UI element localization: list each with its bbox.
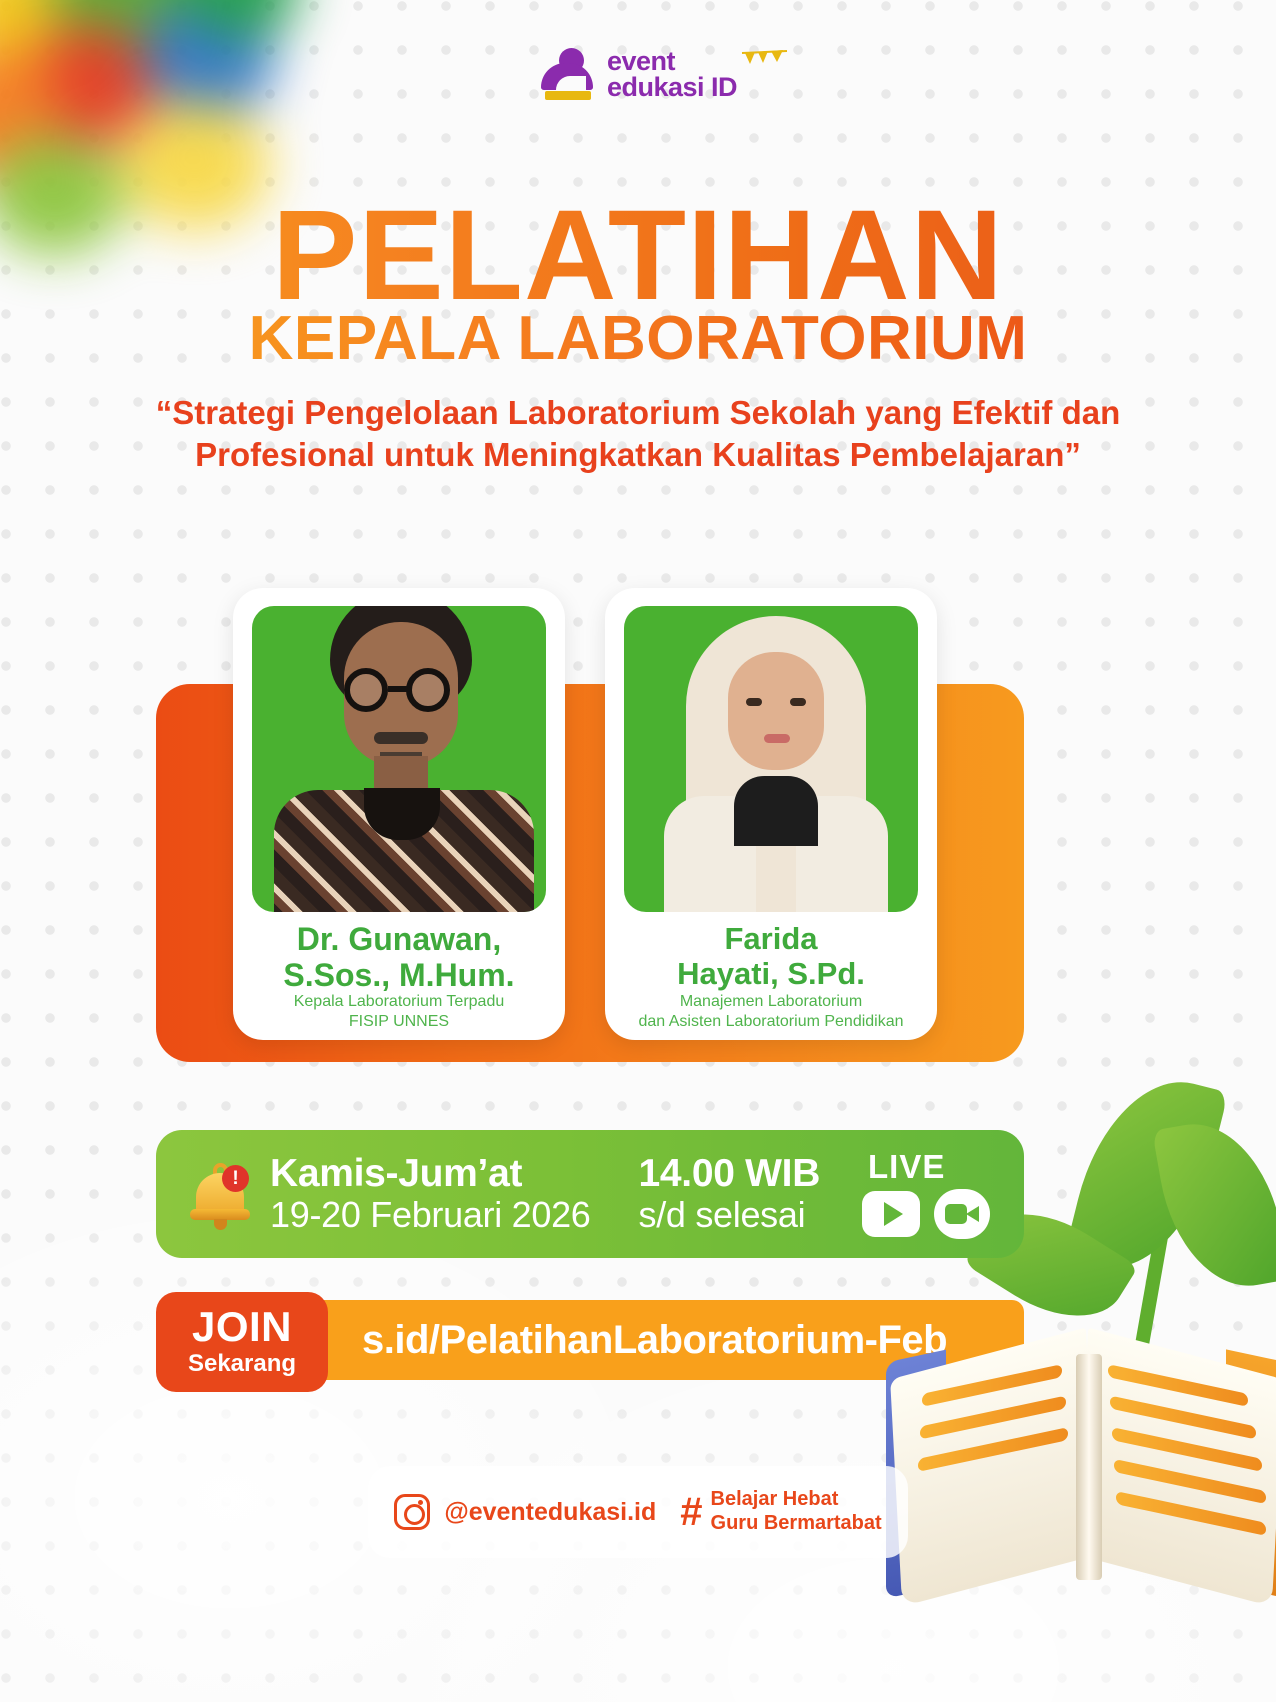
speaker-role-line1: Manajemen Laboratorium xyxy=(615,992,927,1012)
speaker-photo xyxy=(252,606,546,912)
person-podium-icon xyxy=(539,48,597,100)
event-time-note: s/d selesai xyxy=(639,1195,821,1235)
poster-canvas: event edukasi ID PELATIHAN KEPALA LABORA… xyxy=(0,0,1276,1702)
brand-logo-text: event edukasi ID xyxy=(607,48,737,101)
speaker-role: Manajemen Laboratorium dan Asisten Labor… xyxy=(615,992,927,1032)
join-now-badge[interactable]: JOIN Sekarang xyxy=(156,1292,328,1392)
brand-logo-line1: event xyxy=(607,48,737,74)
live-platform-block: LIVE xyxy=(862,1150,990,1239)
event-time-block: 14.00 WIB s/d selesai xyxy=(639,1153,821,1235)
bell-badge-mark: ! xyxy=(222,1165,249,1192)
instagram-block[interactable]: @eventedukasi.id xyxy=(394,1494,656,1530)
event-date: 19-20 Februari 2026 xyxy=(270,1195,591,1235)
page-subtitle: KEPALA LABORATORIUM xyxy=(0,308,1276,370)
speakers-container: Dr. Gunawan, S.Sos., M.Hum. Kepala Labor… xyxy=(0,588,1276,1068)
event-day: Kamis-Jum’at xyxy=(270,1153,591,1195)
speaker-role-line2: FISIP UNNES xyxy=(243,1012,555,1032)
speaker-name-line2: Hayati, S.Pd. xyxy=(615,957,927,992)
event-tagline: “Strategi Pengelolaan Laboratorium Sekol… xyxy=(150,392,1126,476)
bunting-flags-icon xyxy=(741,50,789,68)
hashtag-block: # Belajar Hebat Guru Bermartabat xyxy=(680,1488,881,1535)
speaker-name: Farida Hayati, S.Pd. xyxy=(615,922,927,991)
zoom-camera-icon xyxy=(934,1189,990,1239)
brand-logo: event edukasi ID xyxy=(0,48,1276,101)
brand-logo-line2: edukasi ID xyxy=(607,74,737,100)
instagram-icon xyxy=(394,1494,430,1530)
speaker-photo xyxy=(624,606,918,912)
speaker-name-line1: Dr. Gunawan, xyxy=(243,922,555,958)
hashtag-text: Belajar Hebat Guru Bermartabat xyxy=(711,1488,882,1535)
platform-icons xyxy=(862,1189,990,1239)
hashtag-line1: Belajar Hebat xyxy=(711,1488,882,1512)
youtube-play-icon xyxy=(862,1191,920,1237)
join-badge-line1: JOIN xyxy=(192,1306,292,1348)
speaker-name-line2: S.Sos., M.Hum. xyxy=(243,958,555,994)
speaker-role-line2: dan Asisten Laboratorium Pendidikan xyxy=(615,1012,927,1032)
speaker-name-line1: Farida xyxy=(615,922,927,957)
speaker-card: Dr. Gunawan, S.Sos., M.Hum. Kepala Labor… xyxy=(233,588,565,1040)
event-date-block: Kamis-Jum’at 19-20 Februari 2026 xyxy=(270,1153,591,1235)
event-time: 14.00 WIB xyxy=(639,1153,821,1195)
speaker-role-line1: Kepala Laboratorium Terpadu xyxy=(243,992,555,1012)
speaker-name: Dr. Gunawan, S.Sos., M.Hum. xyxy=(243,922,555,994)
instagram-handle: @eventedukasi.id xyxy=(444,1498,656,1527)
live-label: LIVE xyxy=(862,1150,945,1183)
hashtag-line2: Guru Bermartabat xyxy=(711,1512,882,1536)
open-book-decoration xyxy=(896,1262,1276,1592)
speaker-role: Kepala Laboratorium Terpadu FISIP UNNES xyxy=(243,992,555,1032)
join-badge-line2: Sekarang xyxy=(188,1350,296,1379)
hashtag-symbol-icon: # xyxy=(680,1492,702,1532)
footer-social-bar: @eventedukasi.id # Belajar Hebat Guru Be… xyxy=(368,1466,908,1558)
event-info-bar: ! Kamis-Jum’at 19-20 Februari 2026 14.00… xyxy=(156,1130,1024,1258)
bell-alert-icon: ! xyxy=(188,1159,254,1229)
speaker-card: Farida Hayati, S.Pd. Manajemen Laborator… xyxy=(605,588,937,1040)
page-title: PELATIHAN xyxy=(0,192,1276,320)
